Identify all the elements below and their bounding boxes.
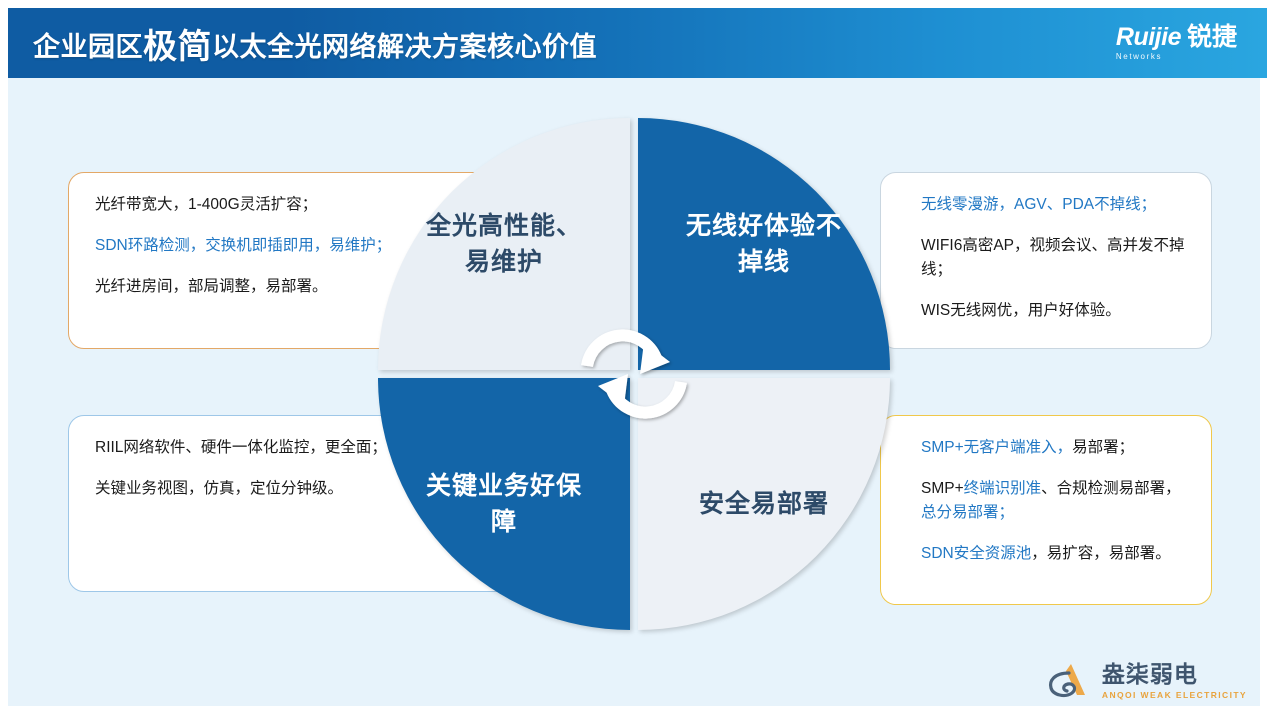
text-run: ，易扩容，易部署。 (1031, 545, 1171, 562)
card-paragraph: SMP+终端识别准、合规检测易部署，总分易部署； (907, 477, 1185, 525)
text-run: 光纤带宽大，1-400G灵活扩容； (95, 196, 317, 213)
anqoi-mark-icon (1041, 659, 1091, 703)
page-title: 企业园区极简以太全光网络解决方案核心价值 (33, 19, 597, 68)
ruijie-wordmark: Ruijie Networks (1116, 25, 1181, 61)
text-run: 终端识别准 (964, 480, 1042, 497)
text-run: 无线零漫游，AGV、PDA不掉线； (921, 196, 1156, 213)
text-run: SMP+ (921, 480, 964, 497)
text-run: WIFI6高密AP，视频会议、高并发不掉线； (921, 237, 1185, 278)
quadrant-business-assurance: 关键业务好保障 (378, 378, 630, 630)
title-emphasis: 极简 (143, 28, 212, 66)
text-run: 总分易部署； (921, 504, 1014, 521)
ruijie-logo: Ruijie Networks 锐捷 (1116, 25, 1237, 61)
quadrant-label: 全光高性能、易维护 (419, 208, 589, 281)
text-run: 光纤进房间，部局调整，易部署。 (95, 278, 328, 295)
text-run: SDN环路检测，交换机即插即用，易维护； (95, 237, 391, 254)
ruijie-tagline: Networks (1116, 53, 1181, 61)
slide-header-bar: 企业园区极简以太全光网络解决方案核心价值 Ruijie Networks 锐捷 (8, 8, 1267, 78)
card-paragraph: SDN安全资源池，易扩容，易部署。 (907, 542, 1185, 566)
slide-canvas: 企业园区极简以太全光网络解决方案核心价值 Ruijie Networks 锐捷 … (0, 0, 1267, 713)
ruijie-name: Ruijie (1116, 25, 1181, 50)
text-run: SDN安全资源池 (921, 545, 1031, 562)
quadrant-label: 安全易部署 (679, 486, 849, 522)
card-paragraph: 无线零漫游，AGV、PDA不掉线； (907, 193, 1185, 217)
watermark-english: ANQOI WEAK ELECTRICITY (1102, 690, 1247, 700)
value-wheel-diagram: 全光高性能、易维护 无线好体验不掉线 关键业务好保障 安全易部署 (378, 118, 890, 630)
text-run: WIS无线网优，用户好体验。 (921, 302, 1121, 319)
card-wireless-experience: 无线零漫游，AGV、PDA不掉线；WIFI6高密AP，视频会议、高并发不掉线；W… (880, 172, 1212, 349)
quadrant-security-deployment: 安全易部署 (638, 378, 890, 630)
card-paragraph: WIFI6高密AP，视频会议、高并发不掉线； (907, 234, 1185, 282)
title-suffix: 以太全光网络解决方案核心价值 (212, 32, 597, 62)
card-paragraph: WIS无线网优，用户好体验。 (907, 299, 1185, 323)
quadrant-label: 无线好体验不掉线 (679, 208, 849, 281)
card-paragraph: SMP+无客户端准入，易部署； (907, 436, 1185, 460)
text-run: SMP+无客户端准入， (921, 439, 1072, 456)
quadrant-wireless-experience: 无线好体验不掉线 (638, 118, 890, 370)
ruijie-chinese-name: 锐捷 (1187, 25, 1237, 61)
text-run: 易部署； (1072, 439, 1134, 456)
watermark-text: 盎柒弱电 ANQOI WEAK ELECTRICITY (1102, 662, 1247, 699)
quadrant-optical-performance: 全光高性能、易维护 (378, 118, 630, 370)
quadrant-label: 关键业务好保障 (419, 468, 589, 541)
text-run: 、合规检测易部署， (1041, 480, 1181, 497)
card-security-deployment: SMP+无客户端准入，易部署；SMP+终端识别准、合规检测易部署，总分易部署；S… (880, 415, 1212, 605)
watermark-chinese: 盎柒弱电 (1102, 662, 1247, 686)
text-run: RIIL网络软件、硬件一体化监控，更全面； (95, 439, 387, 456)
title-prefix: 企业园区 (33, 32, 143, 62)
text-run: 关键业务视图，仿真，定位分钟级。 (95, 480, 343, 497)
watermark-logo: 盎柒弱电 ANQOI WEAK ELECTRICITY (1041, 659, 1247, 703)
